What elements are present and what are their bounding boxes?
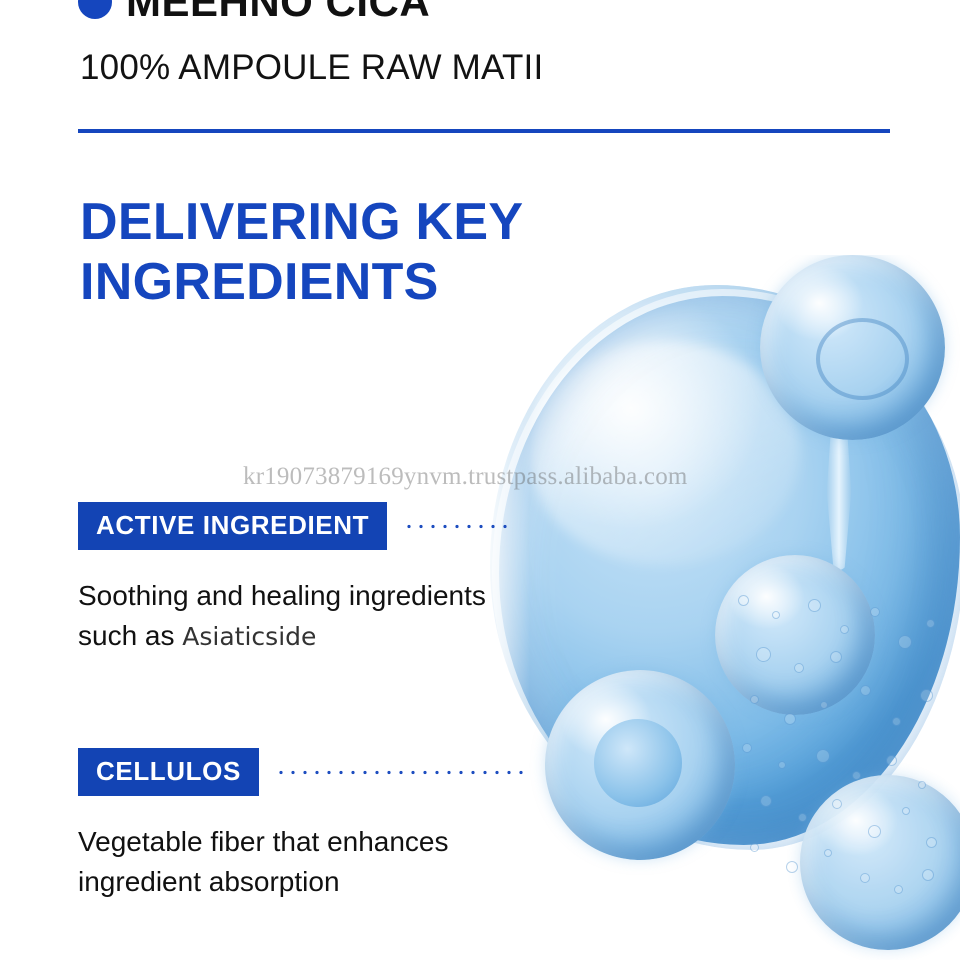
- ingredient-block-cellulos: CELLULOS Vegetable fiber that enhances i…: [78, 748, 548, 902]
- micro-bubble-speck: [840, 625, 849, 634]
- ingredient-description: Soothing and healing ingredients such as…: [78, 576, 548, 656]
- micro-bubble-speck: [926, 619, 935, 628]
- micro-bubble-speck: [894, 885, 903, 894]
- dotted-connector-line: [275, 770, 525, 775]
- header-divider: [78, 129, 890, 133]
- dotted-connector-line: [403, 524, 515, 529]
- micro-bubble-speck: [772, 611, 780, 619]
- gel-blob-rim: [492, 289, 960, 857]
- watermark-text: kr19073879169ynvm.trustpass.alibaba.com: [243, 463, 688, 491]
- main-gel-blob: [490, 285, 960, 845]
- micro-bubble-speck: [922, 869, 934, 881]
- micro-bubble-speck: [868, 825, 881, 838]
- micro-bubble-speck: [852, 771, 861, 780]
- ingredient-description-main: Vegetable fiber that enhances ingredient…: [78, 826, 449, 897]
- micro-bubble-speck: [808, 599, 821, 612]
- micro-bubble-speck: [798, 813, 807, 822]
- status-badge: CELLULOS: [78, 748, 259, 796]
- ingredient-badge-row: CELLULOS: [78, 748, 548, 796]
- micro-bubble-speck: [742, 743, 752, 753]
- micro-bubble-speck: [830, 651, 842, 663]
- gel-drip-neck: [822, 420, 856, 570]
- status-badge: ACTIVE INGREDIENT: [78, 502, 387, 550]
- micro-bubble-speck: [750, 695, 759, 704]
- brand-header: MEEHNO CICA: [78, 0, 430, 26]
- bubble-bottom-right: [800, 775, 960, 950]
- micro-bubble-speck: [892, 717, 901, 726]
- page-title-line-2: INGREDIENTS: [80, 252, 600, 312]
- brand-name: MEEHNO CICA: [126, 0, 430, 26]
- bubble-bottom-left: [545, 670, 735, 860]
- micro-bubble-speck: [860, 685, 871, 696]
- ingredient-description: Vegetable fiber that enhances ingredient…: [78, 822, 548, 902]
- micro-bubble-speck: [920, 689, 933, 702]
- micro-bubble-speck: [824, 849, 832, 857]
- micro-bubble-speck: [860, 873, 870, 883]
- micro-bubble-speck: [786, 861, 798, 873]
- infographic-page: MEEHNO CICA 100% AMPOULE RAW MATII DELIV…: [0, 0, 960, 960]
- micro-bubble-speck: [926, 837, 937, 848]
- micro-bubble-speck: [794, 663, 804, 673]
- bubble-middle: [715, 555, 875, 715]
- micro-bubble-speck: [756, 647, 771, 662]
- bubble-top-right: [760, 255, 945, 440]
- micro-bubble-speck: [902, 807, 910, 815]
- micro-bubble-speck: [820, 701, 828, 709]
- micro-bubble-speck: [886, 755, 897, 766]
- micro-bubble-specks: [720, 585, 960, 915]
- ingredient-block-active-ingredient: ACTIVE INGREDIENT Soothing and healing i…: [78, 502, 548, 656]
- page-title-line-1: DELIVERING KEY: [80, 192, 600, 252]
- micro-bubble-speck: [778, 761, 786, 769]
- micro-bubble-speck: [816, 749, 830, 763]
- micro-bubble-speck: [832, 799, 842, 809]
- ingredient-badge-row: ACTIVE INGREDIENT: [78, 502, 548, 550]
- page-subtitle: 100% AMPOULE RAW MATII: [80, 48, 543, 88]
- micro-bubble-speck: [898, 635, 912, 649]
- ingredient-description-highlight: Asiaticside: [182, 622, 316, 651]
- micro-bubble-speck: [760, 795, 772, 807]
- micro-bubble-speck: [784, 713, 796, 725]
- blue-circle-logo-mark-icon: [78, 0, 112, 19]
- micro-bubble-speck: [738, 595, 749, 606]
- page-title: DELIVERING KEY INGREDIENTS: [80, 192, 600, 313]
- micro-bubble-speck: [918, 781, 926, 789]
- micro-bubble-speck: [750, 843, 759, 852]
- micro-bubble-speck: [870, 607, 880, 617]
